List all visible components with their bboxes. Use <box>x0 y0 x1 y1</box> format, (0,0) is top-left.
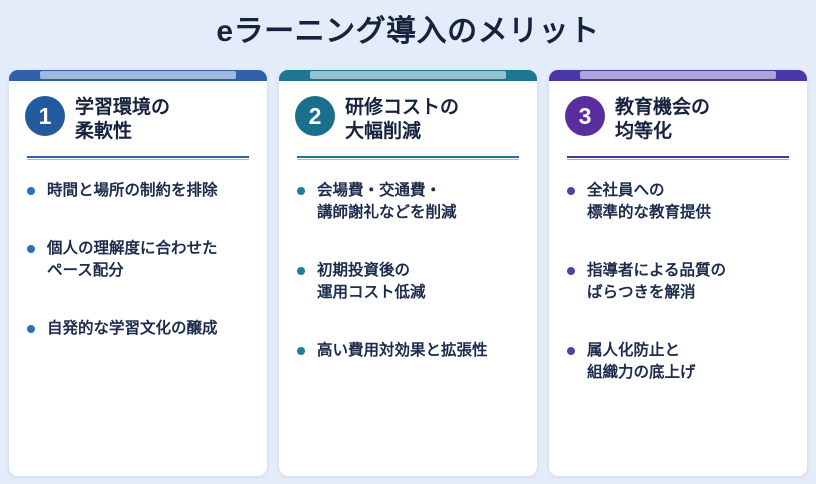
divider-line-secondary <box>567 159 789 160</box>
bullet-dot-icon <box>297 187 305 195</box>
card-body: 3 教育機会の 均等化 全社員への 標準的な教育提供 <box>549 81 807 384</box>
card-bullet-list: 時間と場所の制約を排除 個人の理解度に合わせた ペース配分 自発的な学習文化の醸… <box>25 160 251 340</box>
bullet-text-line1: 指導者による品質の <box>587 262 726 279</box>
benefit-cards-row: 1 学習環境の 柔軟性 時間と場所の制約を排除 <box>9 70 807 476</box>
card-title-divider <box>567 156 789 160</box>
bullet-text-line2: ばらつきを解消 <box>587 282 791 304</box>
bullet-dot-icon <box>297 347 305 355</box>
card-body: 1 学習環境の 柔軟性 時間と場所の制約を排除 <box>9 81 267 340</box>
card-accent-bar-highlight <box>580 71 776 79</box>
card-bullet-list: 全社員への 標準的な教育提供 指導者による品質の ばらつきを解消 属人化防止と … <box>565 160 791 384</box>
list-item: 会場費・交通費・ 講師謝礼などを削減 <box>297 180 521 224</box>
list-item: 指導者による品質の ばらつきを解消 <box>567 260 791 304</box>
bullet-text-line1: 時間と場所の制約を排除 <box>47 182 218 199</box>
card-accent-bar <box>549 70 807 81</box>
card-body: 2 研修コストの 大幅削減 会場費・交通費・ 講師謝礼などを削減 <box>279 81 537 362</box>
bullet-text-line2: 標準的な教育提供 <box>587 202 791 224</box>
bullet-text-line1: 会場費・交通費・ <box>317 182 441 199</box>
list-item: 自発的な学習文化の醸成 <box>27 318 251 340</box>
card-title-line1: 学習環境の <box>75 97 170 118</box>
bullet-text-line2: 組織力の底上げ <box>587 362 791 384</box>
page-title: eラーニング導入のメリット <box>0 14 816 50</box>
card-accent-bar <box>279 70 537 81</box>
divider-line-primary <box>297 156 519 158</box>
card-number-badge: 3 <box>565 96 605 136</box>
bullet-dot-icon <box>27 245 35 253</box>
bullet-dot-icon <box>567 267 575 275</box>
divider-line-primary <box>27 156 249 158</box>
benefit-card-1[interactable]: 1 学習環境の 柔軟性 時間と場所の制約を排除 <box>9 70 267 476</box>
bullet-text-line2: ペース配分 <box>47 260 251 282</box>
bullet-text-line1: 自発的な学習文化の醸成 <box>47 320 218 337</box>
list-item: 初期投資後の 運用コスト低減 <box>297 260 521 304</box>
card-title: 教育機会の 均等化 <box>615 95 710 145</box>
card-title-line2: 均等化 <box>615 120 710 144</box>
card-title-line1: 研修コストの <box>345 97 459 118</box>
divider-line-secondary <box>27 159 249 160</box>
divider-line-primary <box>567 156 789 158</box>
bullet-dot-icon <box>27 325 35 333</box>
bullet-text-line1: 個人の理解度に合わせた <box>47 240 218 257</box>
bullet-text-line2: 運用コスト低減 <box>317 282 521 304</box>
bullet-dot-icon <box>567 347 575 355</box>
card-header: 1 学習環境の 柔軟性 <box>25 95 251 145</box>
bullet-text-line2: 講師謝礼などを削減 <box>317 202 521 224</box>
card-header: 2 研修コストの 大幅削減 <box>295 95 521 145</box>
card-accent-bar-highlight <box>40 71 236 79</box>
benefit-card-3[interactable]: 3 教育機会の 均等化 全社員への 標準的な教育提供 <box>549 70 807 476</box>
card-title-line2: 柔軟性 <box>75 120 170 144</box>
card-title-divider <box>297 156 519 160</box>
bullet-text-line1: 属人化防止と <box>587 342 680 359</box>
list-item: 個人の理解度に合わせた ペース配分 <box>27 238 251 282</box>
bullet-dot-icon <box>297 267 305 275</box>
card-number-badge: 2 <box>295 96 335 136</box>
bullet-dot-icon <box>27 187 35 195</box>
card-header: 3 教育機会の 均等化 <box>565 95 791 145</box>
card-accent-bar <box>9 70 267 81</box>
divider-line-secondary <box>297 159 519 160</box>
card-bullet-list: 会場費・交通費・ 講師謝礼などを削減 初期投資後の 運用コスト低減 高い費用対効… <box>295 160 521 362</box>
bullet-dot-icon <box>567 187 575 195</box>
list-item: 属人化防止と 組織力の底上げ <box>567 340 791 384</box>
list-item: 全社員への 標準的な教育提供 <box>567 180 791 224</box>
slide-canvas: eラーニング導入のメリット 1 学習環境の 柔軟性 <box>0 0 816 484</box>
card-title: 研修コストの 大幅削減 <box>345 95 459 145</box>
card-title: 学習環境の 柔軟性 <box>75 95 170 145</box>
bullet-text-line1: 全社員への <box>587 182 665 199</box>
card-number-badge: 1 <box>25 96 65 136</box>
card-title-line1: 教育機会の <box>615 97 710 118</box>
list-item: 時間と場所の制約を排除 <box>27 180 251 202</box>
bullet-text-line1: 高い費用対効果と拡張性 <box>317 342 488 359</box>
bullet-text-line1: 初期投資後の <box>317 262 410 279</box>
benefit-card-2[interactable]: 2 研修コストの 大幅削減 会場費・交通費・ 講師謝礼などを削減 <box>279 70 537 476</box>
card-title-line2: 大幅削減 <box>345 120 459 144</box>
card-accent-bar-highlight <box>310 71 506 79</box>
list-item: 高い費用対効果と拡張性 <box>297 340 521 362</box>
card-title-divider <box>27 156 249 160</box>
